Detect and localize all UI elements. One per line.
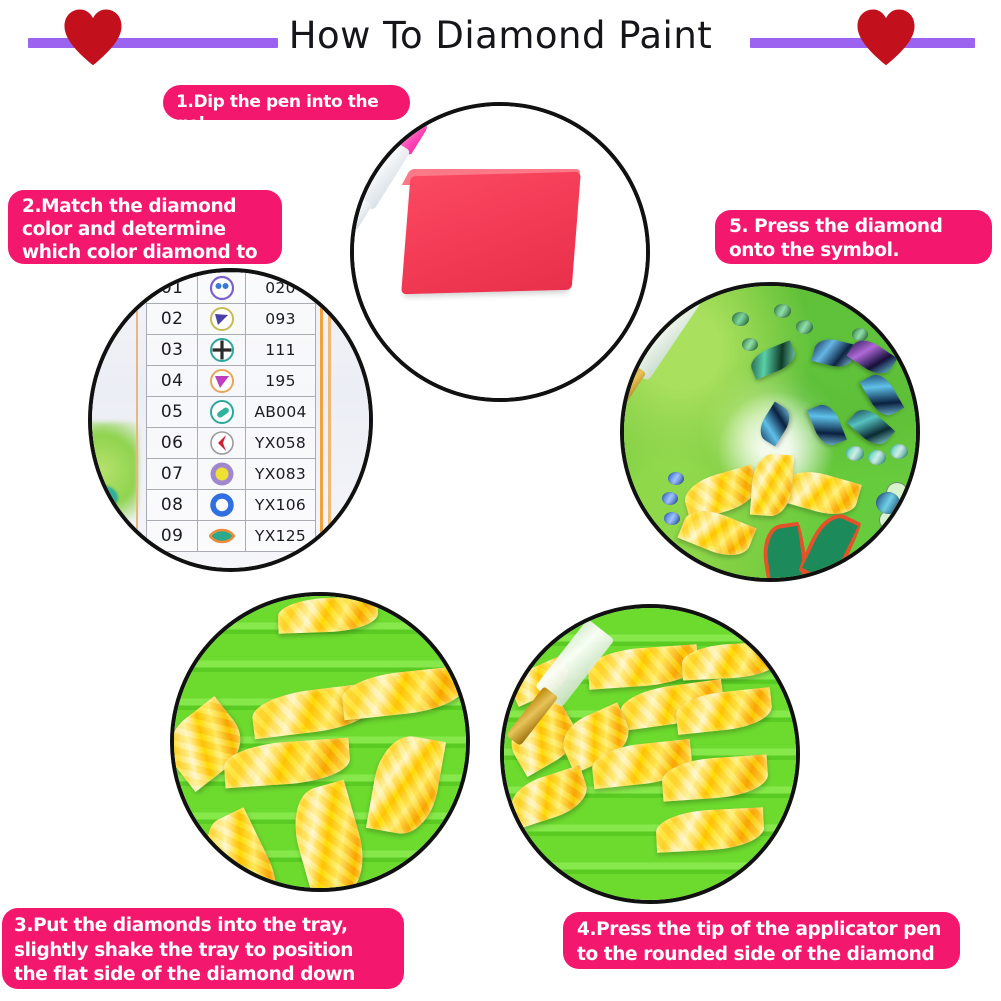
table-row: 09 YX125 [147, 521, 316, 552]
leaf-marquise-icon [209, 523, 235, 549]
table-row: 03 111 [147, 335, 316, 366]
placed-drill [890, 444, 908, 459]
chart-orange-line [320, 292, 323, 562]
open-ring-icon [209, 492, 235, 518]
symbol-cell [198, 335, 246, 366]
code-number: 03 [147, 335, 198, 366]
placed-drill [774, 304, 791, 318]
table-row: 01 020 [147, 273, 316, 304]
table-row: 06 YX058 [147, 428, 316, 459]
filled-donut-icon [209, 461, 235, 487]
photo-background: 01 020 02 [92, 272, 369, 568]
background-green-blur [88, 422, 138, 542]
placed-drill [796, 320, 813, 334]
code-number: 05 [147, 397, 198, 428]
color-code: YX106 [246, 490, 316, 521]
slanted-capsule-icon [209, 399, 235, 425]
step-4-label: 4.Press the tip of the applicator pen to… [563, 912, 960, 969]
code-number: 09 [147, 521, 198, 552]
step-2-photo: 01 020 02 [88, 268, 373, 572]
placed-drill [664, 512, 680, 525]
photo-background [624, 286, 916, 578]
color-code: YX083 [246, 459, 316, 490]
placed-drill [846, 446, 864, 461]
table-row: 07 YX083 [147, 459, 316, 490]
photo-background [354, 106, 646, 398]
placed-drill [742, 338, 758, 351]
table-row: 08 YX106 [147, 490, 316, 521]
code-number: 04 [147, 366, 198, 397]
color-code: 195 [246, 366, 316, 397]
code-number: 08 [147, 490, 198, 521]
double-dot-circle-icon [209, 275, 235, 301]
symbol-cell [198, 273, 246, 304]
symbol-cell [198, 304, 246, 335]
symbol-cell [198, 397, 246, 428]
photo-background [504, 608, 796, 900]
step-3-photo [170, 592, 470, 892]
triangle-flag-icon [209, 306, 235, 332]
placed-drill [668, 472, 684, 485]
color-code: YX058 [246, 428, 316, 459]
step-3-label: 3.Put the diamonds into the tray, slight… [2, 908, 404, 989]
color-code: 020 [246, 273, 316, 304]
chart-left-rule [136, 290, 138, 565]
triangle-half-icon [209, 368, 235, 394]
page-header: How To Diamond Paint [0, 0, 1001, 78]
symbol-cell [198, 490, 246, 521]
placed-drill [662, 492, 678, 505]
code-number: 01 [147, 273, 198, 304]
color-code: 111 [246, 335, 316, 366]
placed-drill [868, 450, 886, 465]
table-row: 02 093 [147, 304, 316, 335]
page-title: How To Diamond Paint [0, 10, 1001, 62]
table-row: 05 AB004 [147, 397, 316, 428]
photo-background [174, 596, 466, 888]
step-1-photo [350, 102, 650, 402]
symbol-cell [198, 459, 246, 490]
symbol-cell [198, 366, 246, 397]
color-code-table: 01 020 02 [146, 272, 316, 552]
code-number: 02 [147, 304, 198, 335]
plus-cross-icon [209, 337, 235, 363]
symbol-cell [198, 428, 246, 459]
placed-drill [876, 492, 900, 514]
code-number: 06 [147, 428, 198, 459]
step-4-photo [500, 604, 800, 904]
table-row: 04 195 [147, 366, 316, 397]
code-number: 07 [147, 459, 198, 490]
chart-orange-line [328, 292, 331, 562]
placed-drill [852, 328, 868, 341]
left-chevron-icon [209, 430, 235, 456]
step-1-label: 1.Dip the pen into the gel [163, 85, 410, 120]
pink-gel-pad [401, 172, 581, 294]
step-5-label: 5. Press the diamond onto the symbol. [715, 210, 992, 264]
color-code: YX125 [246, 521, 316, 552]
step-5-photo [620, 282, 920, 582]
symbol-cell [198, 521, 246, 552]
step-2-label: 2.Match the diamond color and determine … [8, 190, 282, 264]
color-code: AB004 [246, 397, 316, 428]
placed-drill [732, 312, 749, 326]
color-code: 093 [246, 304, 316, 335]
